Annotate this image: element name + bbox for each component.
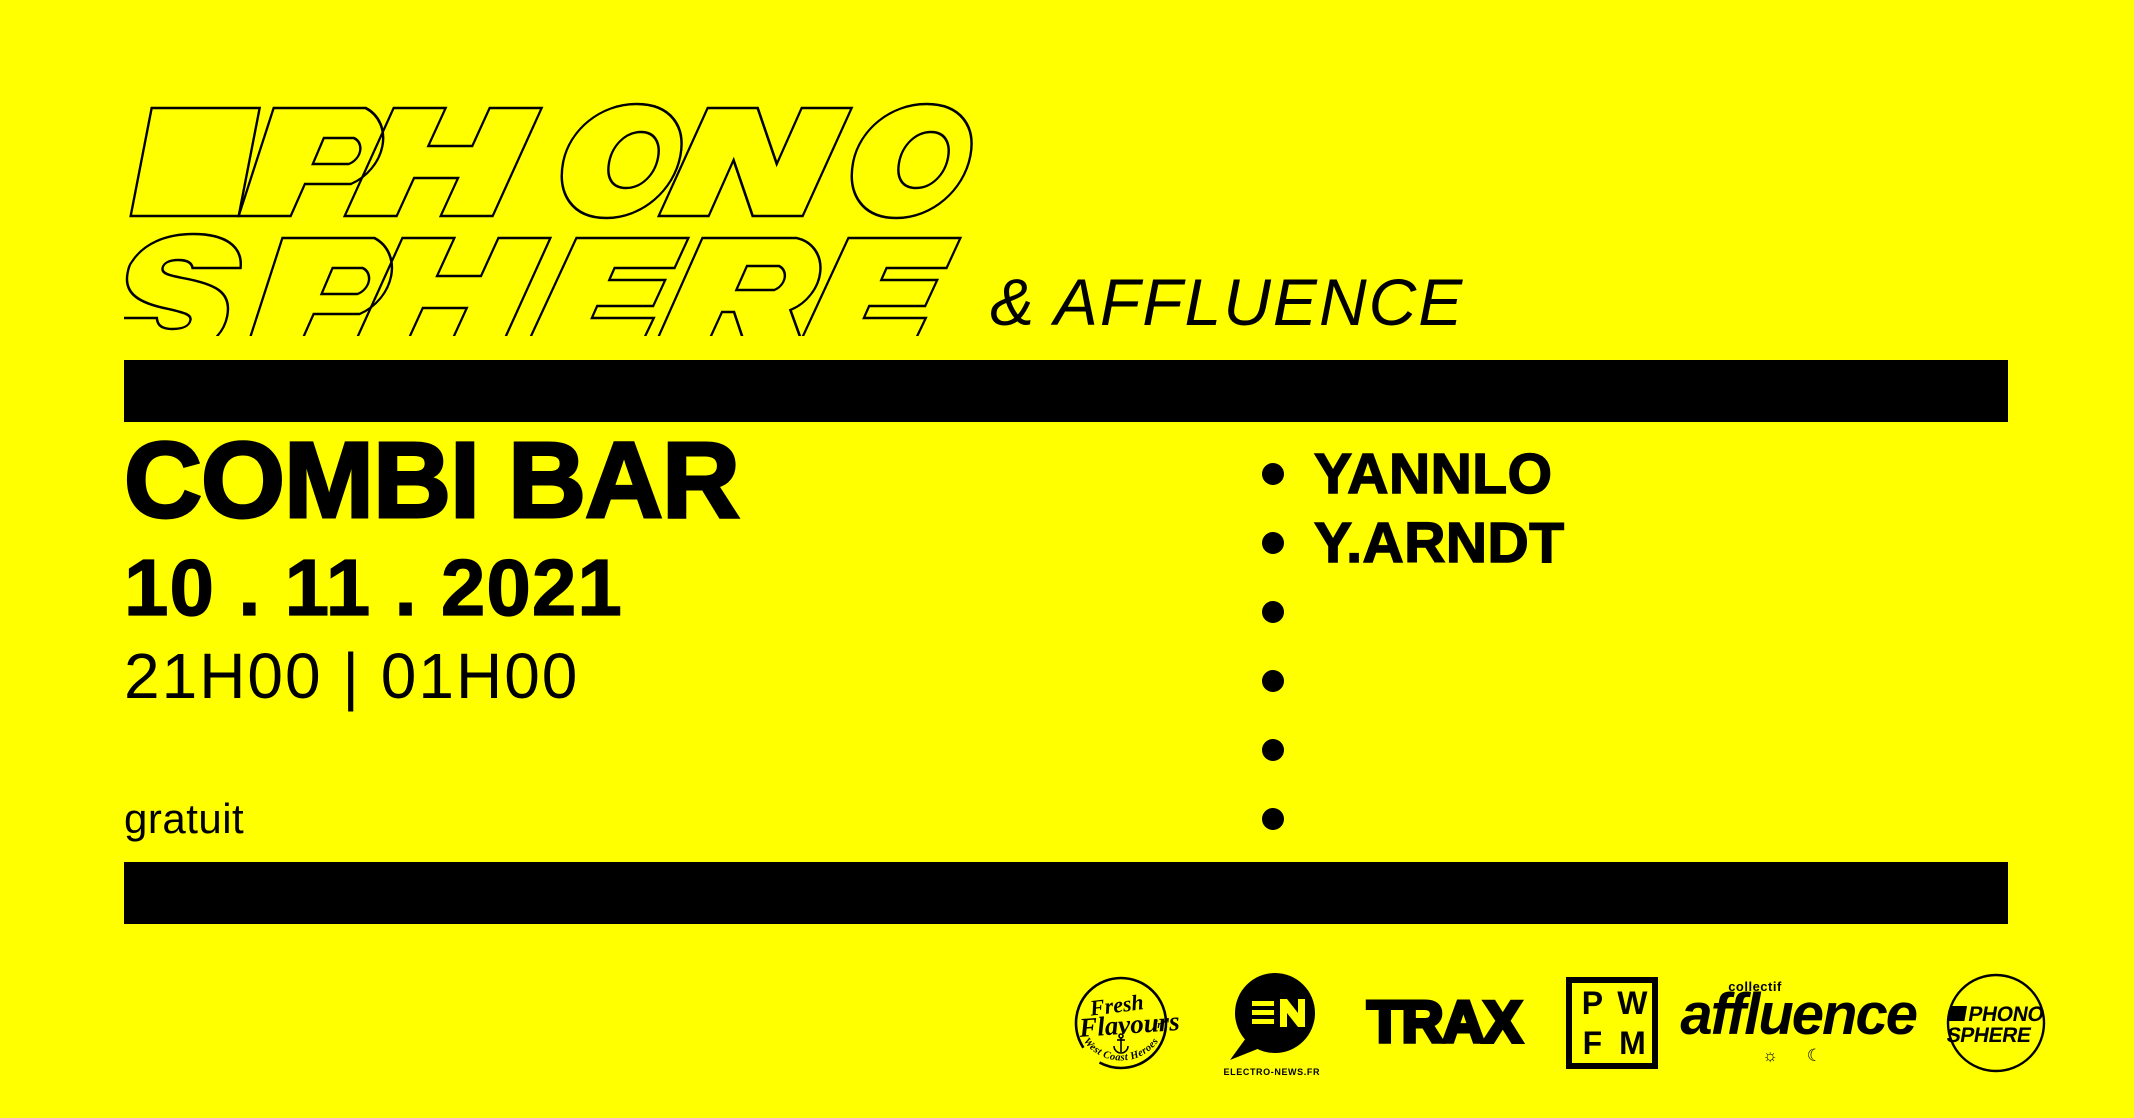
logo-text-line-2: SPHERE (0, 0, 1, 1)
pwfm-box: P W F M (1566, 977, 1658, 1069)
roundel-square-mark (1948, 1006, 1967, 1021)
venue-name: COMBI BAR (124, 426, 1204, 534)
event-hours: 21H00 | 01H00 (124, 640, 1204, 714)
divider-bar-top (124, 360, 2008, 422)
divider-bar-bottom (124, 862, 2008, 924)
fresh-flavours-superscript: fr (1154, 1020, 1161, 1031)
list-item (1262, 716, 1962, 784)
electro-news-logo-svg (1220, 968, 1324, 1064)
pwfm-letter-p: P (1572, 983, 1612, 1023)
bullet-dot-icon (1262, 601, 1284, 623)
electro-news-caption: ELECTRO-NEWS.FR (1224, 1067, 1321, 1077)
lineup-list: YANNLO Y.ARNDT (1262, 440, 1962, 854)
roundel-line-2: SPHERE (1945, 1024, 2033, 1047)
event-details: COMBI BAR 10 . 11 . 2021 21H00 | 01H00 (124, 426, 1204, 714)
roundel-line-1: PHONO (1967, 1003, 2046, 1026)
event-poster: & AFFLUENCE COMBI BAR 10 . 11 . 2021 21H… (0, 0, 2134, 1118)
phonosphere-outline-logo: & AFFLUENCE (124, 96, 1644, 341)
phonosphere-logo-svg: & AFFLUENCE (124, 96, 1644, 336)
lineup-artist-name: YANNLO (1314, 441, 1552, 507)
list-item (1262, 578, 1962, 646)
phonosphere-roundel-svg: PHONO SPHERE (1934, 961, 2058, 1085)
event-date: 10 . 11 . 2021 (124, 544, 1204, 632)
brand-lockup: & AFFLUENCE (124, 96, 1644, 336)
bullet-dot-icon (1262, 670, 1284, 692)
fresh-flavours-logo-svg: Fresh Flavours fr West Coast Heroes (1062, 964, 1180, 1082)
price-note: gratuit (124, 795, 244, 843)
list-item: Y.ARNDT (1262, 509, 1962, 577)
list-item (1262, 785, 1962, 853)
pwfm-letter-w: W (1612, 983, 1652, 1023)
bullet-dot-icon (1262, 808, 1284, 830)
sponsor-logo-fresh-flavours: Fresh Flavours fr West Coast Heroes (1060, 963, 1182, 1083)
affluence-wordmark: affluence (1680, 986, 1916, 1044)
pwfm-letter-f: F (1572, 1023, 1612, 1063)
collab-label: & AFFLUENCE (990, 265, 1464, 336)
trax-wordmark: TRAX (1367, 989, 1521, 1056)
bullet-dot-icon (1262, 532, 1284, 554)
sponsor-logo-phonosphere: PHONO SPHERE (1932, 963, 2060, 1083)
bullet-dot-icon (1262, 463, 1284, 485)
sponsor-logo-electro-news: ELECTRO-NEWS.FR (1216, 963, 1328, 1083)
sponsor-logo-pwfm: P W F M (1560, 963, 1664, 1083)
lineup-artist-name: Y.ARNDT (1314, 510, 1565, 576)
sun-moon-icon: ☼ ☾ (1762, 1046, 1834, 1066)
pwfm-letter-m: M (1612, 1023, 1652, 1063)
bullet-dot-icon (1262, 739, 1284, 761)
sponsor-logo-trax: TRAX (1362, 963, 1527, 1083)
list-item (1262, 647, 1962, 715)
sponsor-logo-strip: Fresh Flavours fr West Coast Heroes (1060, 955, 2060, 1090)
list-item: YANNLO (1262, 440, 1962, 508)
logo-text-line-1: PHONO (0, 0, 1, 1)
sponsor-logo-affluence: collectif affluence ☼ ☾ (1698, 963, 1898, 1083)
